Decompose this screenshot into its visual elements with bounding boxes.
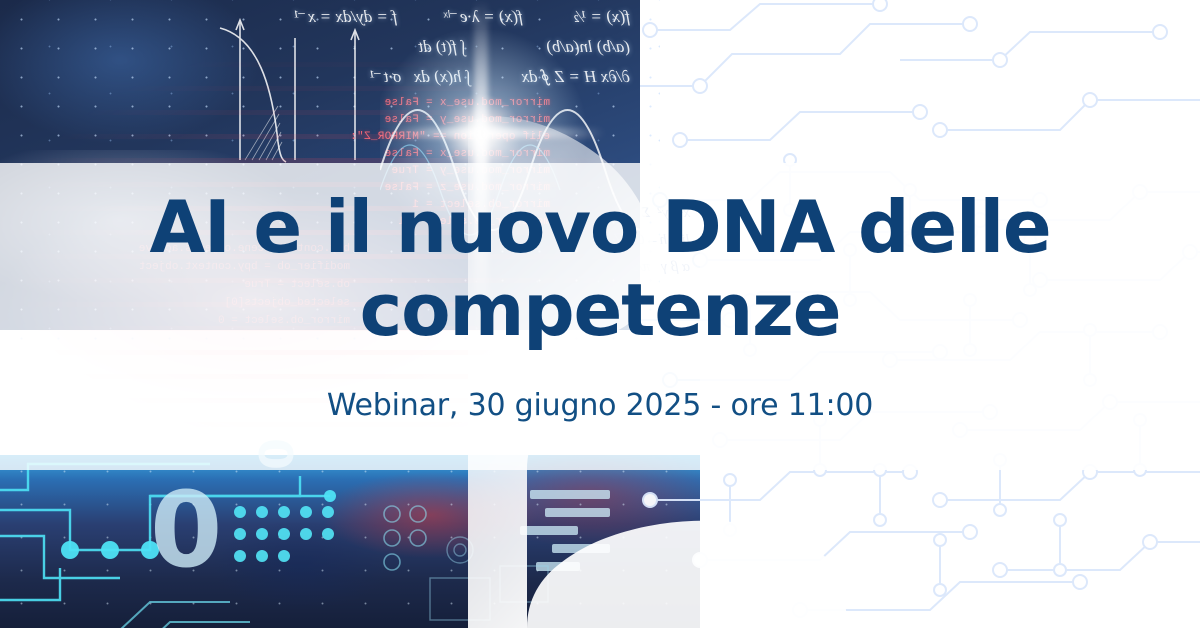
banner-subtitle: Webinar, 30 giugno 2025 - ore 11:00 [70, 389, 1130, 423]
banner-content: AI e il nuovo DNA delle competenze Webin… [0, 0, 1200, 628]
banner-title-line-2: competenze [70, 269, 1130, 352]
banner-title-line-1: AI e il nuovo DNA delle [70, 186, 1130, 269]
webinar-banner: f(x) = ½ f(x) = λ·e⁻ˡˣ f = dy/dx = x⁻¹ (… [0, 0, 1200, 628]
